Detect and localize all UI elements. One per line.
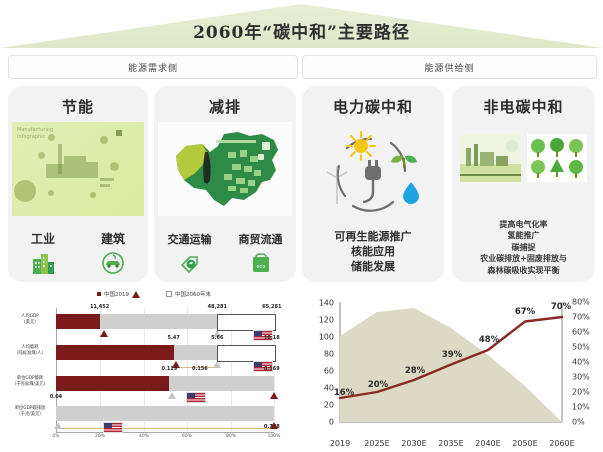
cat1-l2: （吨标准煤/人） [14,351,46,356]
nonpower-images [460,134,587,182]
cat3-l1: 单位GDP碳排放 [15,406,46,411]
bar-chart: 中国2019 中国2060年末 人均GDP（美元） 人均能耗（吨标准煤/人） 单… [4,288,304,450]
data-label-4: 48% [479,335,499,345]
x-tick-4: 80% [226,434,236,439]
card-nonpower-carbon-neutral-title: 非电碳中和 [452,96,595,117]
bar-chart-legend: 中国2019 中国2060年末 [4,290,304,298]
marker-china-2019 [270,392,278,399]
section-header-supply-label: 能源供给侧 [424,61,474,74]
x-tick-1: 20% [95,434,105,439]
bar-category-label-0: 人均GDP（美元） [6,314,54,326]
card-power-carbon-neutral: 电力碳中和 [302,86,444,282]
marker-china-2060 [213,361,221,368]
marker-china-2019 [100,330,108,337]
us-flag-icon [103,422,123,433]
eco-bag-icon: eco [249,250,273,276]
table-row: 0.04 0.232 0.778 [56,400,274,428]
card-nonpower-carbon-neutral: 非电碳中和 [452,86,595,282]
bar-chart-plot: 11,452 48,281 65,281 5.47 5.66 10.18 [56,308,274,426]
x-label-3: 2035E [438,439,463,448]
line-area-chart-plot: 0 20 40 60 80 100 120 140 0% 10% 20% 30%… [310,288,600,450]
x-label-6: 2060E [549,439,574,448]
item-building: 建筑 [78,230,148,276]
cat0-l2: （美元） [21,320,38,325]
sun-icon [347,132,375,160]
x-label-1: 2025E [364,439,389,448]
legend-item-china-2019: 中国2019 [97,290,140,298]
data-label-0: 16% [334,388,354,398]
data-label-5: 67% [515,307,535,317]
bar-track [56,406,274,421]
bar-value-3-start: 0.04 [50,394,62,400]
card-emission-reduction-title: 减排 [154,96,296,117]
legend-swatch-triangle [132,291,140,298]
bar-value-0-1: 48,281 [208,304,227,310]
wind-turbine-icon [327,166,347,204]
bar-category-label-3: 单位GDP碳排放（千克/美元） [6,406,54,418]
x-tick-5: 100% [268,434,281,439]
bar-fill [56,376,169,391]
table-row: 0.119 0.156 0.169 [56,370,274,398]
card-emission-reduction: 减排 [154,86,296,282]
legend-label-china-2060: 中国2060年末 [175,290,211,298]
carbon-neutral-infographic: 2060年“碳中和”主要路径 能源需求侧 能源供给侧 节能 Manufactur… [0,0,603,452]
bar-hollow [217,345,276,362]
sprout-icon [391,156,417,168]
bar-fill [56,345,174,360]
marker-china-2060 [168,392,176,399]
bar-chart-x-axis [56,432,274,433]
data-label-3: 39% [442,350,462,360]
marker-china-2060 [54,422,62,429]
power-plug-icon [364,160,381,202]
power-line-1: 可再生能源推广 [302,229,444,244]
card-energy-saving-title: 节能 [8,96,148,117]
table-row: 5.47 5.66 10.18 [56,339,274,367]
nonpower-line-2: 氢能推广 [452,230,595,242]
renewable-cycle-illustration [313,126,433,226]
card-emission-reduction-items: 交通运输 商贸流通 eco [154,231,296,276]
bar-category-label-2: 单位GDP能耗（千克标煤/美元） [6,376,54,388]
legend-swatch-square [97,292,101,296]
marker-china-2019 [270,422,278,429]
item-commerce: 商贸流通 eco [225,231,296,276]
data-label-1: 20% [368,380,388,390]
cat0-l1: 人均GDP [21,314,39,319]
card-energy-saving: 节能 Manufacturing Infographic 工业 [8,86,148,282]
nonpower-line-4: 农业碳排放+固废排放与 [452,253,595,265]
bar-category-label-1: 人均能耗（吨标准煤/人） [6,345,54,357]
page-title: 2060年“碳中和”主要路径 [0,18,603,43]
legend-swatch-square-open [166,291,172,297]
legend-label-china-2019: 中国2019 [104,290,129,298]
data-label-6: 70% [551,302,571,312]
bar-value-0-0: 11,452 [90,304,109,310]
trees-photo [527,134,587,182]
power-line-2: 核能应用 [302,244,444,259]
bar-fill [56,314,100,329]
card-power-carbon-neutral-title: 电力碳中和 [302,96,444,117]
x-tick-2: 40% [139,434,149,439]
card-power-carbon-neutral-lines: 可再生能源推广 核能应用 储能发展 [302,229,444,274]
power-line-3: 储能发展 [302,259,444,274]
cat1-l1: 人均能耗 [21,345,38,350]
x-label-2: 2030E [401,439,426,448]
x-tick-3: 60% [182,434,192,439]
x-label-4: 2040E [475,439,500,448]
item-transport: 交通运输 [154,231,225,276]
section-header-supply: 能源供给侧 [302,55,597,79]
line-area-chart: 0 20 40 60 80 100 120 140 0% 10% 20% 30%… [310,288,600,450]
item-industry: 工业 [8,230,78,276]
table-row: 11,452 48,281 65,281 [56,308,274,336]
x-label-5: 2050E [512,439,537,448]
bar-value-1-0: 5.47 [168,335,180,341]
item-commerce-label: 商贸流通 [239,231,283,247]
data-label-2: 28% [405,366,425,376]
item-transport-label: 交通运输 [168,231,212,247]
bar-value-2-2: 0.169 [264,366,280,372]
bar-value-2-0: 0.119 [161,366,177,372]
green-factory-photo [460,134,521,182]
cat2-l1: 单位GDP能耗 [17,376,43,381]
svg-text:eco: eco [256,264,265,270]
bar-value-0-2: 65,281 [262,304,281,310]
cat3-l2: （千克/美元） [16,412,43,417]
factory-buildings-icon [30,250,56,276]
nonpower-line-1: 提高电气化率 [452,219,595,231]
car-circle-icon [100,250,126,276]
trend-arrow [60,428,269,429]
bar-value-2-1: 0.156 [192,366,208,372]
item-building-label: 建筑 [101,230,125,247]
bar-value-1-1: 5.66 [211,335,223,341]
nonpower-line-3: 碳捕捉 [452,242,595,254]
nonpower-line-5: 森林碳吸收实现平衡 [452,265,595,277]
legend-item-china-2060: 中国2060年末 [166,290,211,298]
section-header-demand: 能源需求侧 [8,55,298,79]
x-label-0: 2019 [330,439,350,448]
bar-value-1-2: 10.18 [264,335,280,341]
x-tick-0: 0% [52,434,59,439]
water-drop-icon [403,182,419,204]
china-map-image [158,122,292,216]
card-energy-saving-items: 工业 [8,230,148,276]
bar-hollow [217,314,276,331]
cat2-l2: （千克标煤/美元） [12,382,48,387]
card-nonpower-carbon-neutral-lines: 提高电气化率 氢能推广 碳捕捉 农业碳排放+固废排放与 森林碳吸收实现平衡 [452,219,595,277]
section-header-demand-label: 能源需求侧 [128,61,178,74]
item-industry-label: 工业 [31,230,55,247]
manufacturing-infographic-image: Manufacturing Infographic [12,122,144,216]
leaf-tag-icon [177,250,203,276]
